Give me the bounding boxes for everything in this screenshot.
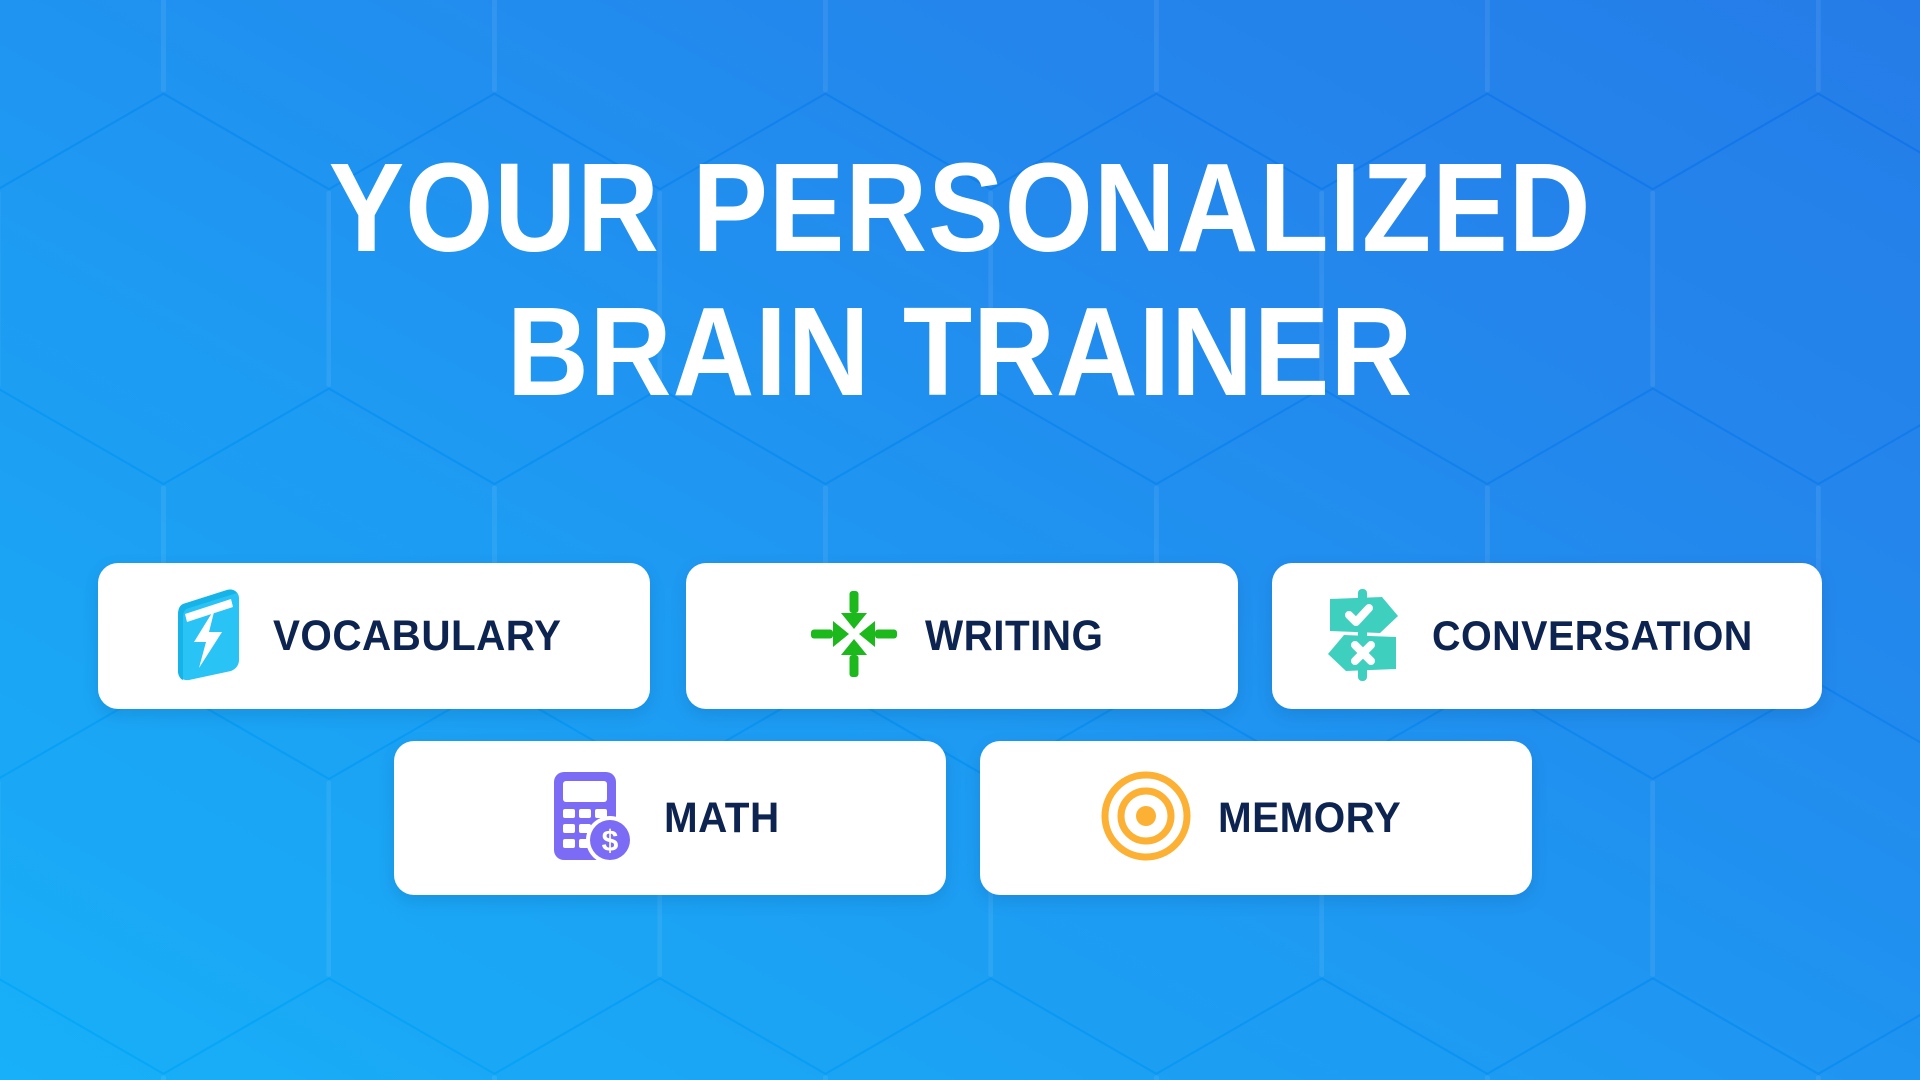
category-card-vocabulary[interactable]: VOCABULARY — [98, 563, 650, 709]
category-card-math[interactable]: $ MATH — [394, 741, 946, 895]
category-card-conversation[interactable]: CONVERSATION — [1272, 563, 1822, 709]
arrows-converge-icon — [809, 589, 899, 684]
category-label-math: MATH — [664, 794, 780, 843]
hero-banner: YOUR PERSONALIZED BRAIN TRAINER VOCABULA… — [0, 0, 1920, 1080]
category-label-conversation: CONVERSATION — [1432, 612, 1753, 660]
page-title-line-1: YOUR PERSONALIZED — [96, 136, 1824, 280]
page-title-line-2: BRAIN TRAINER — [96, 280, 1824, 424]
book-lightning-icon — [169, 586, 247, 687]
target-icon — [1100, 770, 1192, 867]
category-label-memory: MEMORY — [1218, 794, 1401, 843]
calculator-coin-icon: $ — [552, 768, 638, 869]
svg-text:$: $ — [602, 825, 619, 858]
category-label-vocabulary: VOCABULARY — [273, 612, 561, 661]
category-card-memory[interactable]: MEMORY — [980, 741, 1532, 895]
category-card-writing[interactable]: WRITING — [686, 563, 1238, 709]
category-label-writing: WRITING — [925, 612, 1103, 661]
page-title: YOUR PERSONALIZED BRAIN TRAINER — [96, 136, 1824, 424]
signpost-icon — [1320, 585, 1406, 688]
